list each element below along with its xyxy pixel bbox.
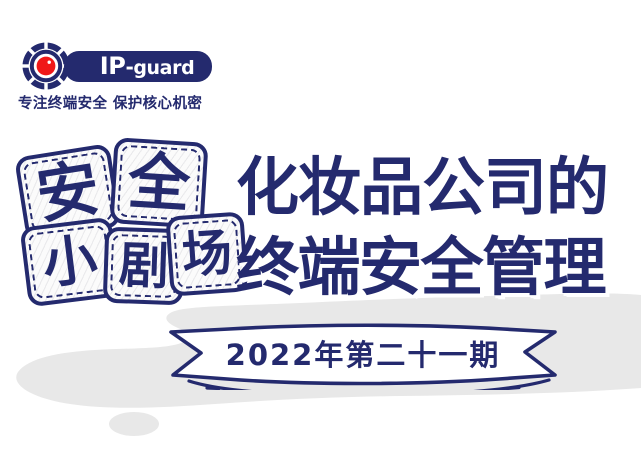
logo-wordmark-ip: IP (100, 52, 126, 80)
logo-wordmark-guard: guard (133, 57, 194, 79)
aperture-target-icon (22, 42, 70, 90)
issue-ribbon: 2022年第二十一期 (163, 318, 563, 390)
logo-wordmark: IP-guard (64, 51, 212, 82)
headline: 化妆品公司的 终端安全管理 (236, 148, 636, 308)
brand-logo: IP-guard 专注终端安全 保护核心机密 (17, 38, 217, 118)
poster-canvas: IP-guard 专注终端安全 保护核心机密 安 全 小 剧 场 化妆品公司的 … (0, 0, 641, 464)
issue-ribbon-label: 2022年第二十一期 (163, 335, 563, 375)
series-badge-char: 全 (126, 150, 192, 216)
logo-tagline: 专注终端安全 保护核心机密 (18, 92, 216, 113)
headline-line-1: 化妆品公司的 (236, 148, 636, 228)
series-badge-char: 小 (40, 232, 100, 292)
headline-line-2: 终端安全管理 (236, 228, 636, 308)
series-badge-group: 安 全 小 剧 场 (18, 138, 243, 318)
series-badge-char: 场 (180, 227, 233, 280)
series-badge-char: 剧 (118, 240, 170, 292)
series-badge-char: 安 (33, 157, 104, 228)
